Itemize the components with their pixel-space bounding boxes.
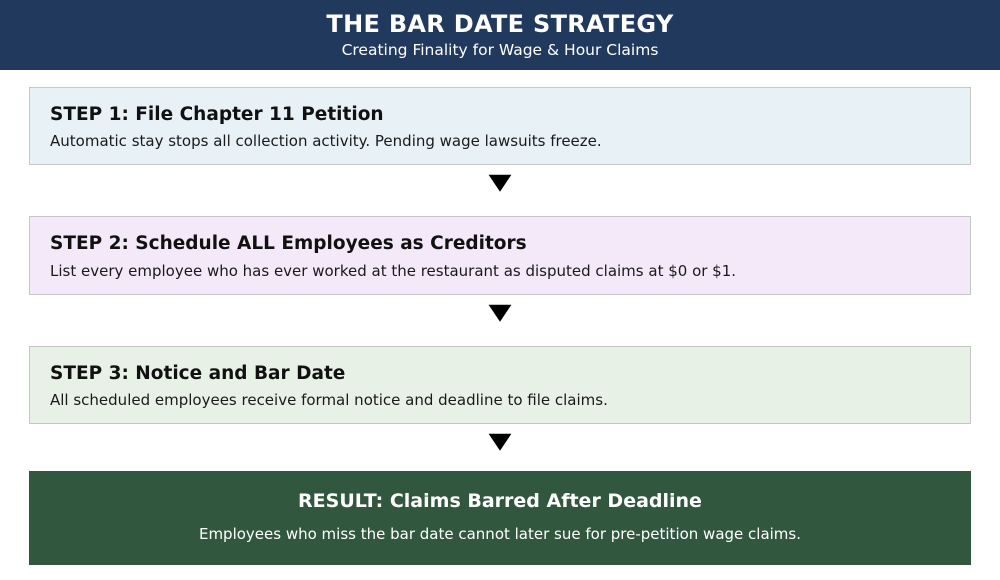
flow-diagram: STEP 1: File Chapter 11 Petition Automat… bbox=[0, 70, 1000, 565]
connector-arrow-1: ▼ bbox=[29, 165, 971, 199]
page-subtitle: Creating Finality for Wage & Hour Claims bbox=[342, 42, 659, 59]
connector-arrow-3: ▼ bbox=[29, 424, 971, 458]
step-card-1: STEP 1: File Chapter 11 Petition Automat… bbox=[29, 87, 971, 165]
step-title-2: STEP 2: Schedule ALL Employees as Credit… bbox=[50, 233, 950, 254]
header-banner: THE BAR DATE STRATEGY Creating Finality … bbox=[0, 0, 1000, 70]
step-description-3: All scheduled employees receive formal n… bbox=[50, 391, 950, 409]
step-card-3: STEP 3: Notice and Bar Date All schedule… bbox=[29, 346, 971, 424]
result-title: RESULT: Claims Barred After Deadline bbox=[49, 491, 951, 513]
bar-date-strategy-infographic: THE BAR DATE STRATEGY Creating Finality … bbox=[0, 0, 1000, 580]
page-title: THE BAR DATE STRATEGY bbox=[326, 11, 673, 37]
step-title-1: STEP 1: File Chapter 11 Petition bbox=[50, 104, 950, 125]
step-description-2: List every employee who has ever worked … bbox=[50, 262, 950, 280]
result-description: Employees who miss the bar date cannot l… bbox=[49, 525, 951, 543]
triangle-down-icon: ▼ bbox=[489, 171, 512, 193]
connector-arrow-2: ▼ bbox=[29, 295, 971, 329]
triangle-down-icon: ▼ bbox=[489, 430, 512, 452]
result-banner: RESULT: Claims Barred After Deadline Emp… bbox=[29, 471, 971, 565]
step-description-1: Automatic stay stops all collection acti… bbox=[50, 132, 950, 150]
step-card-2: STEP 2: Schedule ALL Employees as Credit… bbox=[29, 216, 971, 294]
triangle-down-icon: ▼ bbox=[489, 300, 512, 322]
step-title-3: STEP 3: Notice and Bar Date bbox=[50, 363, 950, 384]
